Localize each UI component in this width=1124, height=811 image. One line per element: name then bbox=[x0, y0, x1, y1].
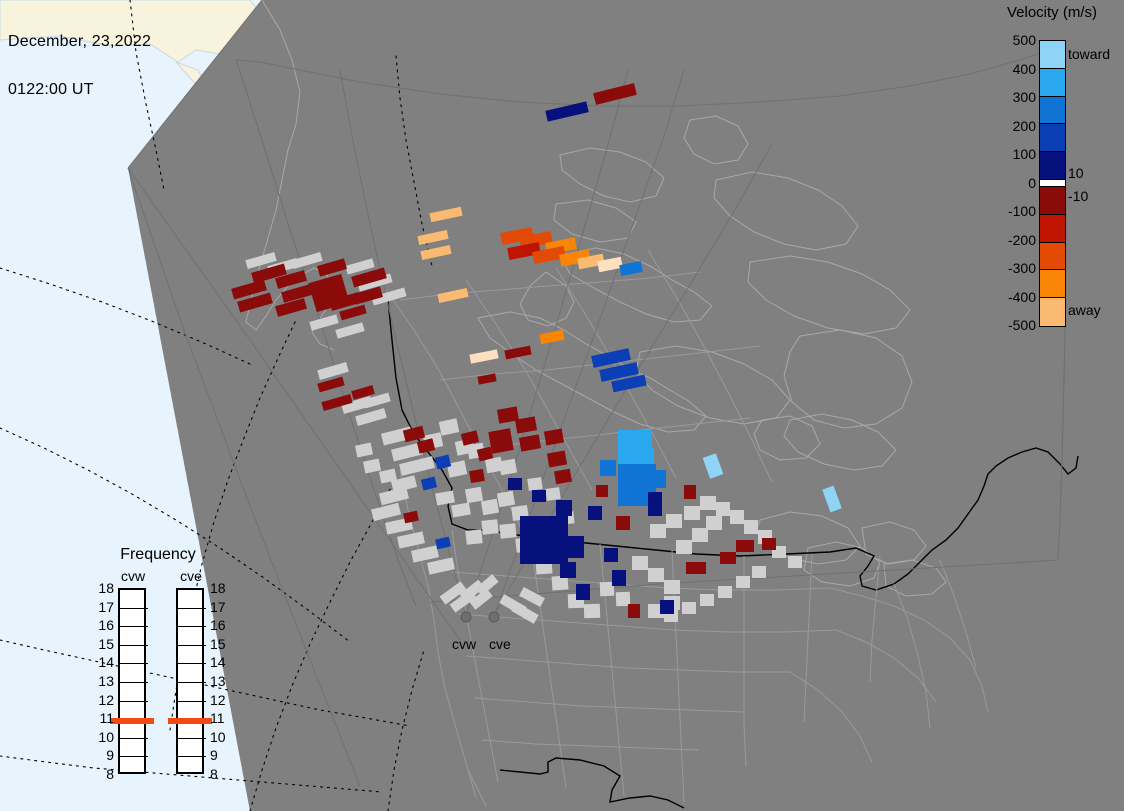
terminator-shadow-region bbox=[128, 0, 1124, 811]
frequency-legend: Frequency cvw18171615141312111098cve1817… bbox=[88, 546, 228, 781]
velocity-cell bbox=[576, 584, 590, 600]
frequency-gridline-13 bbox=[178, 682, 206, 683]
frequency-tick-cvw-14: 14 bbox=[90, 654, 114, 670]
ground-scatter-cell bbox=[499, 459, 517, 476]
radar-site-label-cve[interactable]: cve bbox=[489, 636, 511, 652]
ground-scatter-cell bbox=[545, 487, 561, 501]
colorbar-title: Velocity (m/s) bbox=[980, 4, 1124, 21]
colorbar-tick--500: -500 bbox=[980, 317, 1036, 333]
velocity-cell bbox=[508, 478, 522, 490]
frequency-gridline-17 bbox=[120, 608, 148, 609]
velocity-cell bbox=[648, 470, 666, 488]
ground-scatter-cell bbox=[700, 496, 716, 510]
frequency-gridline-15 bbox=[120, 645, 148, 646]
ground-scatter-cell bbox=[465, 487, 483, 504]
timestamp-block: December, 23,2022 0122:00 UT bbox=[8, 2, 151, 130]
ground-scatter-cell bbox=[718, 586, 732, 598]
ground-scatter-cell bbox=[706, 516, 722, 530]
frequency-tick-cvw-15: 15 bbox=[90, 636, 114, 652]
colorbar-segment-250 bbox=[1040, 97, 1065, 125]
frequency-tick-cvw-11: 11 bbox=[90, 710, 114, 726]
frequency-tick-cvw-9: 9 bbox=[90, 747, 114, 763]
ground-scatter-cell bbox=[682, 602, 696, 614]
velocity-cell bbox=[604, 548, 618, 562]
colorbar-segment-0 bbox=[1040, 180, 1065, 187]
colorbar-tick-0: 0 bbox=[980, 175, 1036, 191]
velocity-cell bbox=[532, 490, 546, 502]
ground-scatter-cell bbox=[632, 556, 648, 570]
colorbar-segment--150 bbox=[1040, 215, 1065, 243]
colorbar-label-toward: toward bbox=[1068, 46, 1110, 62]
colorbar-gradient[interactable] bbox=[1039, 40, 1066, 327]
frequency-gridline-16 bbox=[120, 626, 148, 627]
colorbar-label-pos-threshold: 10 bbox=[1068, 165, 1084, 181]
colorbar-tick-200: 200 bbox=[980, 118, 1036, 134]
frequency-gridline-16 bbox=[178, 626, 206, 627]
radar-site-marker-cve[interactable] bbox=[489, 612, 499, 622]
velocity-colorbar: Velocity (m/s) 5004003002001000-100-200-… bbox=[980, 0, 1124, 340]
frequency-tick-cvw-12: 12 bbox=[90, 692, 114, 708]
colorbar-segment--50 bbox=[1040, 187, 1065, 215]
ground-scatter-cell bbox=[752, 566, 766, 578]
colorbar-label-away: away bbox=[1068, 302, 1101, 318]
colorbar-segment--250 bbox=[1040, 243, 1065, 271]
colorbar-tick--200: -200 bbox=[980, 232, 1036, 248]
radar-fan-plot: December, 23,2022 0122:00 UT Velocity (m… bbox=[0, 0, 1124, 811]
velocity-cell bbox=[469, 469, 485, 483]
frequency-gridline-12 bbox=[178, 701, 206, 702]
ground-scatter-cell bbox=[684, 506, 700, 520]
colorbar-segment--350 bbox=[1040, 270, 1065, 298]
colorbar-segment--450 bbox=[1040, 298, 1065, 326]
velocity-cell bbox=[616, 516, 630, 530]
colorbar-tick--400: -400 bbox=[980, 289, 1036, 305]
ground-scatter-cell bbox=[692, 528, 708, 542]
frequency-tick-cvw-8: 8 bbox=[90, 766, 114, 782]
ground-scatter-cell bbox=[736, 576, 750, 588]
frequency-tick-cvw-18: 18 bbox=[90, 580, 114, 596]
ground-scatter-cell bbox=[650, 524, 666, 538]
colorbar-segment-350 bbox=[1040, 69, 1065, 97]
colorbar-tick--300: -300 bbox=[980, 260, 1036, 276]
colorbar-segment-50 bbox=[1040, 152, 1065, 180]
velocity-cell bbox=[720, 552, 736, 564]
frequency-tick-cve-13: 13 bbox=[210, 673, 234, 689]
colorbar-segment-450 bbox=[1040, 41, 1065, 69]
ground-scatter-cell bbox=[481, 499, 499, 516]
frequency-gridline-13 bbox=[120, 682, 148, 683]
frequency-marker-cvw bbox=[110, 718, 154, 724]
ground-scatter-cell bbox=[666, 514, 682, 528]
velocity-cell bbox=[554, 469, 572, 485]
frequency-gridline-9 bbox=[120, 756, 148, 757]
frequency-tick-cvw-13: 13 bbox=[90, 673, 114, 689]
frequency-tick-cve-14: 14 bbox=[210, 654, 234, 670]
velocity-cell bbox=[568, 536, 584, 558]
frequency-tick-cve-10: 10 bbox=[210, 729, 234, 745]
frequency-box-cve[interactable] bbox=[176, 588, 204, 774]
frequency-tick-cvw-16: 16 bbox=[90, 617, 114, 633]
frequency-tick-cve-9: 9 bbox=[210, 747, 234, 763]
date-label: December, 23,2022 bbox=[8, 34, 151, 50]
velocity-cell bbox=[612, 570, 626, 586]
velocity-cell bbox=[488, 428, 513, 453]
colorbar-tick--100: -100 bbox=[980, 203, 1036, 219]
velocity-cell bbox=[736, 540, 754, 552]
frequency-gridline-12 bbox=[120, 701, 148, 702]
ground-scatter-cell bbox=[481, 519, 498, 535]
velocity-cell bbox=[596, 485, 608, 497]
velocity-cell bbox=[556, 500, 572, 516]
velocity-cell bbox=[648, 492, 662, 516]
ground-scatter-cell bbox=[648, 568, 664, 582]
frequency-tick-cve-12: 12 bbox=[210, 692, 234, 708]
colorbar-tick-400: 400 bbox=[980, 61, 1036, 77]
frequency-title: Frequency bbox=[88, 546, 228, 564]
ground-scatter-cell bbox=[664, 580, 680, 594]
colorbar-tick-500: 500 bbox=[980, 32, 1036, 48]
colorbar-tick-100: 100 bbox=[980, 146, 1036, 162]
colorbar-segment-150 bbox=[1040, 124, 1065, 152]
frequency-tick-cve-17: 17 bbox=[210, 599, 234, 615]
frequency-gridline-10 bbox=[178, 738, 206, 739]
frequency-box-cvw[interactable] bbox=[118, 588, 146, 774]
colorbar-label-neg-threshold: -10 bbox=[1068, 188, 1088, 204]
velocity-cell bbox=[588, 506, 602, 520]
colorbar-tick-300: 300 bbox=[980, 89, 1036, 105]
velocity-cell bbox=[686, 562, 706, 574]
velocity-cell bbox=[560, 562, 576, 578]
frequency-marker-cve bbox=[168, 718, 212, 724]
ground-scatter-cell bbox=[730, 510, 744, 524]
frequency-tick-cve-18: 18 bbox=[210, 580, 234, 596]
ground-scatter-cell bbox=[497, 491, 515, 508]
ground-scatter-cell bbox=[465, 529, 482, 545]
frequency-tick-cvw-10: 10 bbox=[90, 729, 114, 745]
ground-scatter-cell bbox=[527, 477, 543, 491]
velocity-cell bbox=[600, 460, 616, 476]
frequency-tick-cvw-17: 17 bbox=[90, 599, 114, 615]
frequency-column-label-cvw: cvw bbox=[118, 568, 148, 584]
time-label: 0122:00 UT bbox=[8, 82, 151, 98]
frequency-gridline-15 bbox=[178, 645, 206, 646]
velocity-cell bbox=[684, 485, 696, 499]
frequency-gridline-14 bbox=[120, 663, 148, 664]
ground-scatter-cell bbox=[744, 520, 758, 534]
velocity-cell bbox=[660, 600, 674, 614]
ground-scatter-cell bbox=[584, 604, 600, 619]
ground-scatter-cell bbox=[700, 594, 714, 606]
velocity-cell bbox=[520, 516, 568, 564]
frequency-gridline-9 bbox=[178, 756, 206, 757]
frequency-tick-cve-16: 16 bbox=[210, 617, 234, 633]
frequency-tick-cve-15: 15 bbox=[210, 636, 234, 652]
ground-scatter-cell bbox=[499, 523, 516, 539]
radar-site-label-cvw[interactable]: cvw bbox=[452, 636, 476, 652]
velocity-cell bbox=[762, 538, 776, 550]
velocity-cell bbox=[628, 604, 640, 618]
frequency-gridline-14 bbox=[178, 663, 206, 664]
ground-scatter-cell bbox=[716, 502, 730, 516]
frequency-gridline-10 bbox=[120, 738, 148, 739]
frequency-gridline-17 bbox=[178, 608, 206, 609]
ground-scatter-cell bbox=[788, 556, 802, 568]
ground-scatter-cell bbox=[676, 540, 692, 554]
frequency-tick-cve-11: 11 bbox=[210, 710, 234, 726]
radar-site-marker-cvw[interactable] bbox=[461, 612, 471, 622]
frequency-column-label-cve: cve bbox=[176, 568, 206, 584]
frequency-tick-cve-8: 8 bbox=[210, 766, 234, 782]
